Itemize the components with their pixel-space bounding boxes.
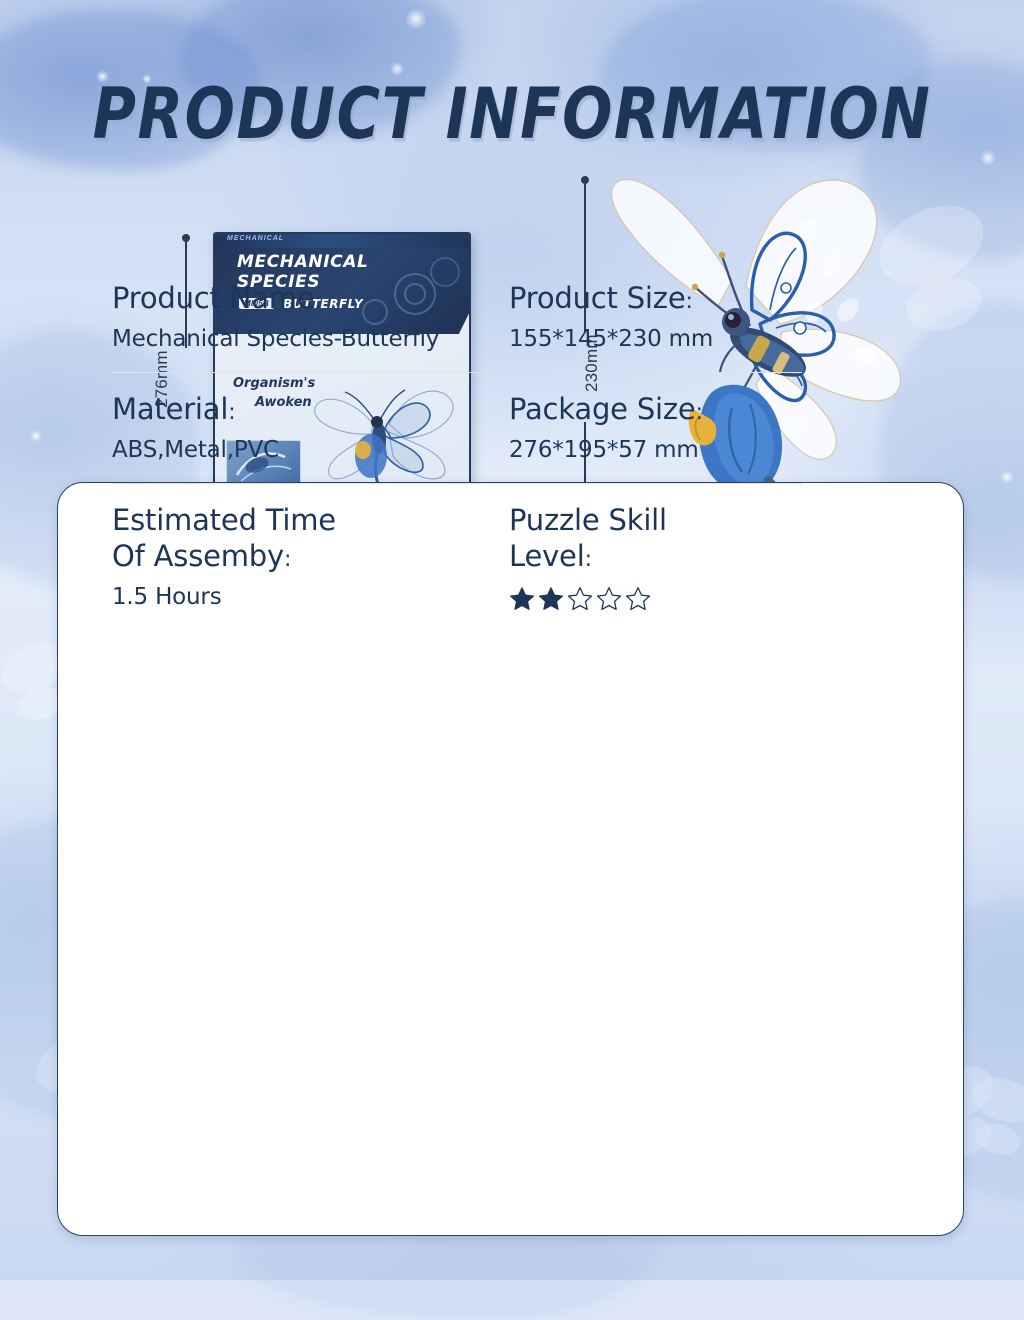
spec-colon: : — [585, 547, 592, 572]
spec-colon: : — [685, 289, 692, 314]
package-top-tiny-text: MECHANICAL — [227, 235, 284, 242]
star-filled-icon — [538, 586, 564, 612]
spec-label-line2: Of Assemby: — [112, 538, 457, 578]
dimension-endpoint — [581, 176, 589, 184]
star-empty-icon — [625, 586, 651, 612]
spec-label-line1: Puzzle Skill — [509, 502, 802, 538]
star-empty-icon — [567, 586, 593, 612]
spec-row: Material: ABS,Metal,PVC Package Size: 27… — [112, 373, 802, 484]
spec-label-product-size: Product Size: — [509, 280, 802, 320]
spec-value-assembly-time: 1.5 Hours — [112, 581, 457, 614]
bokeh-dot — [405, 8, 427, 30]
spec-label-text: Level — [509, 539, 585, 573]
spec-value-product-size: 155*145*230 mm — [509, 323, 802, 356]
spec-label-skill-level: Puzzle Skill Level: — [509, 502, 802, 578]
bokeh-dot — [30, 430, 42, 442]
spec-colon: : — [284, 547, 291, 572]
spec-colon: : — [228, 400, 235, 425]
package-top-strip: MECHANICAL — [215, 234, 469, 248]
page-title: PRODUCT INFORMATION — [0, 72, 1024, 155]
spec-label-material: Material: — [112, 391, 457, 431]
dimension-endpoint — [182, 234, 190, 242]
spec-value-product-name: Mechanical Species-Butterfly — [112, 323, 457, 356]
spec-label-text: Package Size — [509, 392, 696, 426]
spec-cell-material: Material: ABS,Metal,PVC — [112, 373, 457, 483]
spec-label-product-name: Product Name: — [112, 280, 457, 320]
spec-row: Product Name: Mechanical Species-Butterf… — [112, 262, 802, 373]
spec-cell-product-name: Product Name: Mechanical Species-Butterf… — [112, 262, 457, 372]
spec-label-line2: Level: — [509, 538, 802, 578]
skill-level-rating — [509, 586, 802, 612]
spec-colon: : — [696, 400, 703, 425]
spec-label-package-size: Package Size: — [509, 391, 802, 431]
spec-colon: : — [314, 289, 321, 314]
star-empty-icon — [596, 586, 622, 612]
spec-label-text: Product Name — [112, 281, 314, 315]
spec-cell-package-size: Package Size: 276*195*57 mm — [457, 373, 802, 483]
spec-label-text: Product Size — [509, 281, 685, 315]
spec-label-line1: Estimated Time — [112, 502, 457, 538]
spec-table: Product Name: Mechanical Species-Butterf… — [112, 262, 802, 630]
spec-label-text: Of Assemby — [112, 539, 284, 573]
spec-cell-skill-level: Puzzle Skill Level: — [457, 484, 802, 630]
star-filled-icon — [509, 586, 535, 612]
spec-value-material: ABS,Metal,PVC — [112, 434, 457, 467]
spec-cell-product-size: Product Size: 155*145*230 mm — [457, 262, 802, 372]
spec-row: Estimated Time Of Assemby: 1.5 Hours Puz… — [112, 484, 802, 630]
spec-label-text: Material — [112, 392, 228, 426]
spec-cell-assembly-time: Estimated Time Of Assemby: 1.5 Hours — [112, 484, 457, 630]
spec-value-package-size: 276*195*57 mm — [509, 434, 802, 467]
spec-label-assembly-time: Estimated Time Of Assemby: — [112, 502, 457, 578]
bokeh-dot — [1000, 470, 1014, 484]
